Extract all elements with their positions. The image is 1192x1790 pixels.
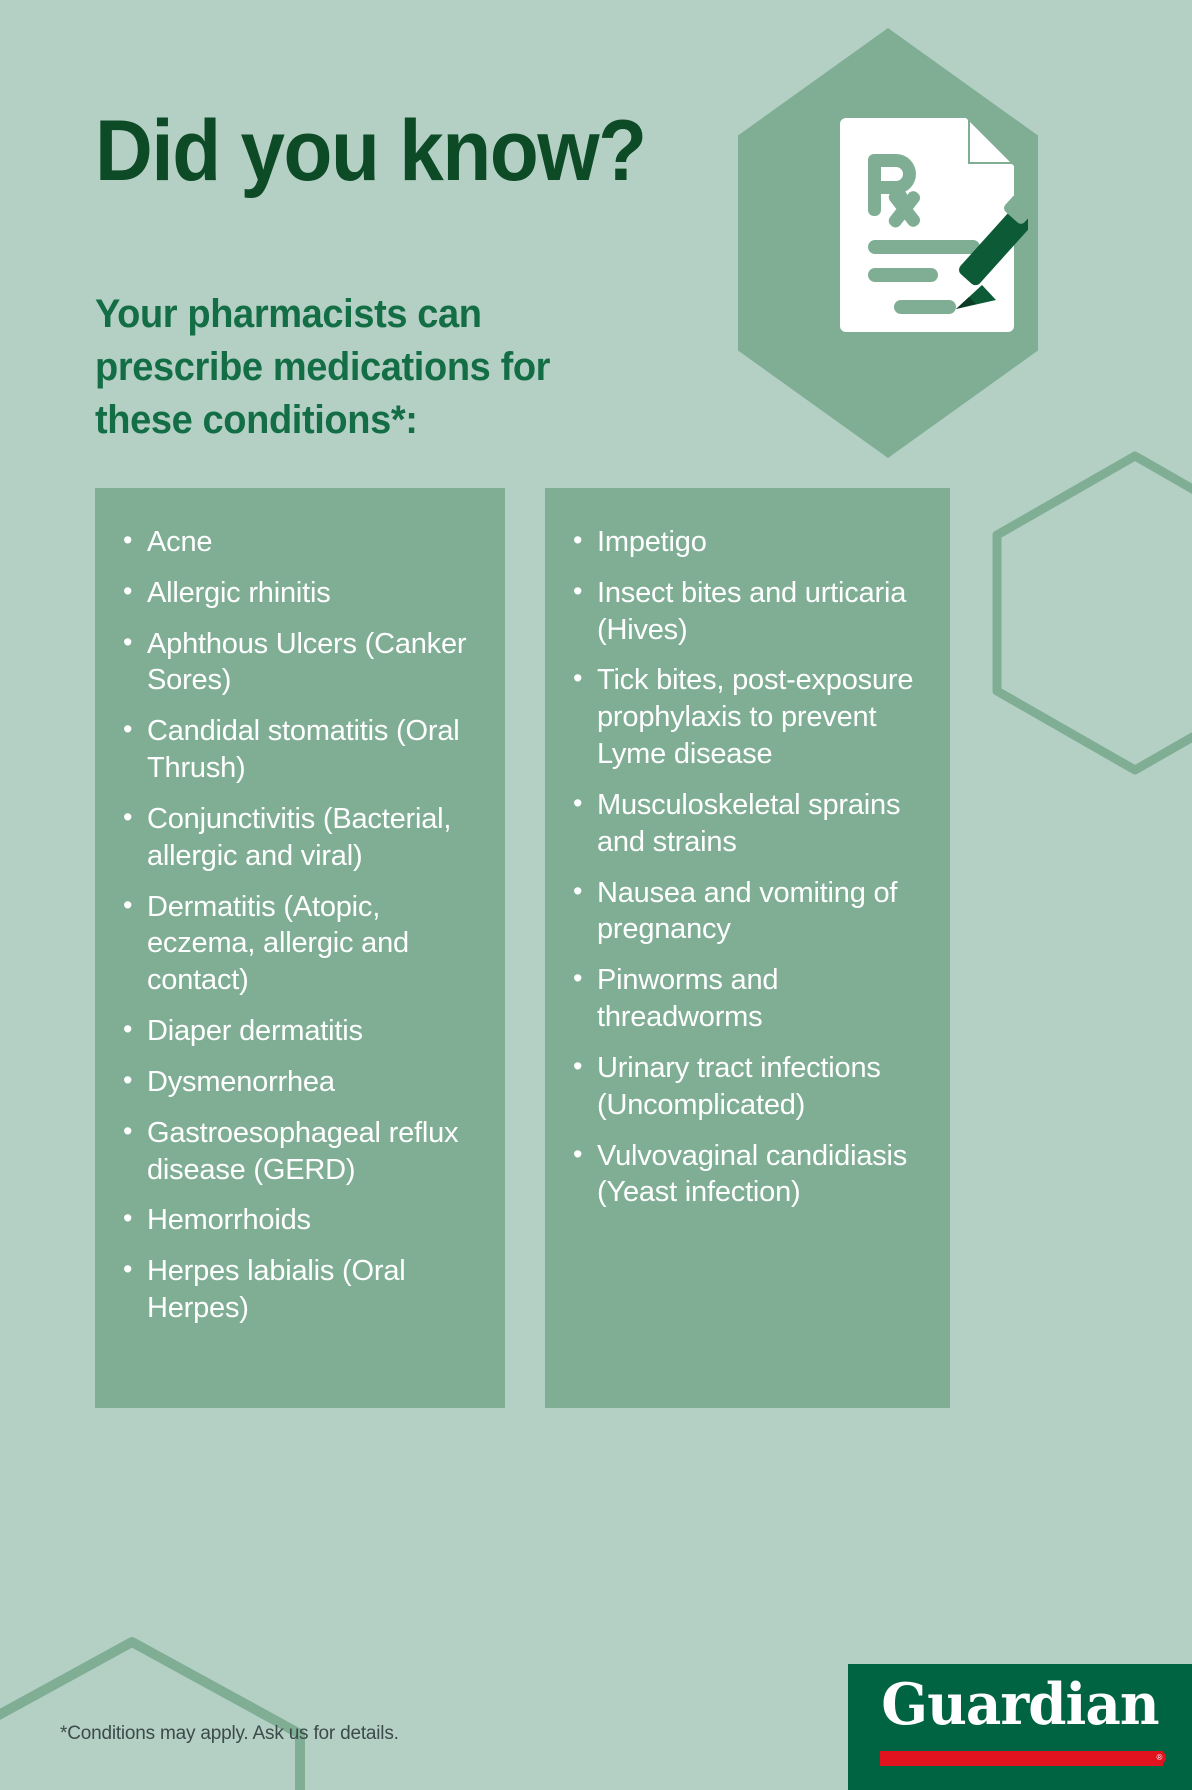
condition-list-item: Allergic rhinitis bbox=[117, 575, 491, 612]
condition-list-item: Hemorrhoids bbox=[117, 1202, 491, 1239]
conditions-list-right: ImpetigoInsect bites and urticaria (Hive… bbox=[545, 488, 950, 1211]
conditions-list-left: AcneAllergic rhinitisAphthous Ulcers (Ca… bbox=[95, 488, 505, 1327]
condition-list-item: Diaper dermatitis bbox=[117, 1013, 491, 1050]
page-subtitle: Your pharmacists can prescribe medicatio… bbox=[95, 288, 627, 448]
condition-list-item: Gastroesophageal reflux disease (GERD) bbox=[117, 1115, 491, 1189]
poster-canvas: Did you know? Your pharmacists can presc… bbox=[0, 0, 1192, 1790]
condition-list-item: Pinworms and threadworms bbox=[567, 962, 936, 1036]
registered-mark-icon: ® bbox=[1153, 1751, 1166, 1764]
condition-list-item: Herpes labialis (Oral Herpes) bbox=[117, 1253, 491, 1327]
condition-list-item: Candidal stomatitis (Oral Thrush) bbox=[117, 713, 491, 787]
guardian-logo: Guardian ® bbox=[848, 1664, 1192, 1790]
condition-list-item: Dysmenorrhea bbox=[117, 1064, 491, 1101]
footnote-text: *Conditions may apply. Ask us for detail… bbox=[60, 1723, 399, 1745]
rx-document-icon bbox=[836, 112, 1028, 332]
condition-list-item: Urinary tract infections (Uncomplicated) bbox=[567, 1050, 936, 1124]
condition-list-item: Vulvovaginal candidiasis (Yeast infectio… bbox=[567, 1138, 936, 1212]
conditions-panel-right: ImpetigoInsect bites and urticaria (Hive… bbox=[545, 488, 950, 1408]
condition-list-item: Musculoskeletal sprains and strains bbox=[567, 787, 936, 861]
condition-list-item: Impetigo bbox=[567, 524, 936, 561]
hexagon-outline-icon bbox=[0, 1634, 310, 1790]
condition-list-item: Aphthous Ulcers (Canker Sores) bbox=[117, 626, 491, 700]
page-title: Did you know? bbox=[95, 108, 646, 194]
condition-list-item: Insect bites and urticaria (Hives) bbox=[567, 575, 936, 649]
hexagon-outline-icon bbox=[985, 448, 1192, 778]
guardian-wordmark: Guardian bbox=[855, 1676, 1185, 1733]
condition-list-item: Tick bites, post-exposure prophylaxis to… bbox=[567, 662, 936, 772]
condition-list-item: Dermatitis (Atopic, eczema, allergic and… bbox=[117, 889, 491, 999]
condition-list-item: Nausea and vomiting of pregnancy bbox=[567, 875, 936, 949]
conditions-panel-left: AcneAllergic rhinitisAphthous Ulcers (Ca… bbox=[95, 488, 505, 1408]
condition-list-item: Conjunctivitis (Bacterial, allergic and … bbox=[117, 801, 491, 875]
logo-red-bar bbox=[880, 1751, 1163, 1766]
condition-list-item: Acne bbox=[117, 524, 491, 561]
